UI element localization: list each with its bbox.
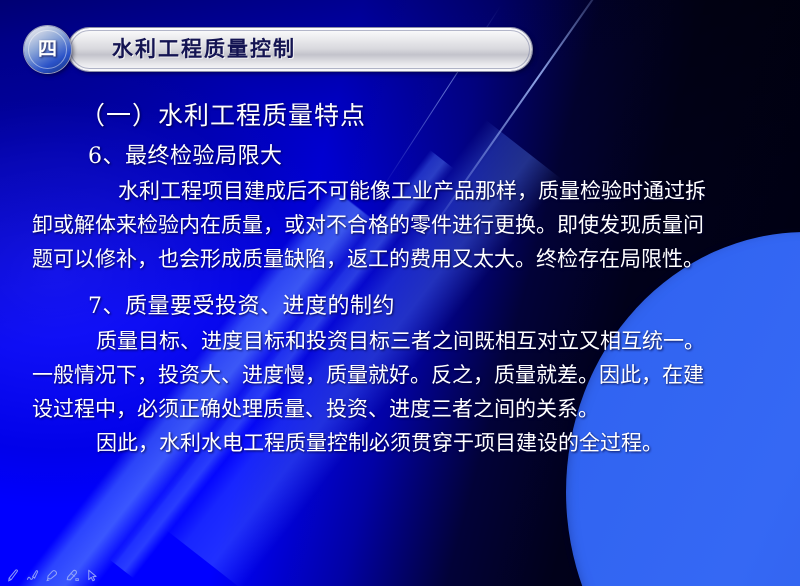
point-7-line-3: 设过程中，必须正确处理质量、投资、进度三者之间的关系。 — [0, 392, 800, 426]
conclusion-line: 因此，水利水电工程质量控制必须贯穿于项目建设的全过程。 — [0, 426, 800, 460]
section-number-badge: 四 — [24, 26, 71, 73]
page-title: 水利工程质量控制 — [112, 26, 296, 73]
point-6-line-2: 卸或解体来检验内在质量，或对不合格的零件进行更换。即使发现质量问 — [0, 208, 800, 242]
body-spacer — [0, 276, 800, 288]
section-heading: （一）水利工程质量特点 — [0, 96, 800, 132]
highlighter-icon[interactable] — [44, 567, 61, 584]
slide-body: （一）水利工程质量特点 6、最终检验局限大 水利工程项目建成后不可能像工业产品那… — [0, 96, 800, 460]
pen-icon[interactable] — [4, 567, 21, 584]
point-6-line-1: 水利工程项目建成后不可能像工业产品那样，质量检验时通过拆 — [0, 174, 800, 208]
pointer-icon[interactable] — [84, 567, 101, 584]
point-7-line-2: 一般情况下，投资大、进度慢，质量就好。反之，质量就差。因此，在建 — [0, 358, 800, 392]
presentation-slide: 四 水利工程质量控制 （一）水利工程质量特点 6、最终检验局限大 水利工程项目建… — [0, 0, 800, 586]
point-6-line-3: 题可以修补，也会形成质量缺陷，返工的费用又太大。终检存在局限性。 — [0, 242, 800, 276]
point-7-line-1: 质量目标、进度目标和投资目标三者之间既相互对立又相互统一。 — [0, 324, 800, 358]
point-7-heading: 7、质量要受投资、进度的制约 — [0, 288, 800, 320]
marker-icon[interactable] — [24, 567, 41, 584]
eraser-icon[interactable] — [64, 567, 81, 584]
section-number-label: 四 — [38, 40, 57, 59]
point-6-heading: 6、最终检验局限大 — [0, 138, 800, 170]
slide-title-banner: 四 水利工程质量控制 — [24, 26, 532, 73]
annotation-toolbar[interactable] — [0, 564, 800, 586]
